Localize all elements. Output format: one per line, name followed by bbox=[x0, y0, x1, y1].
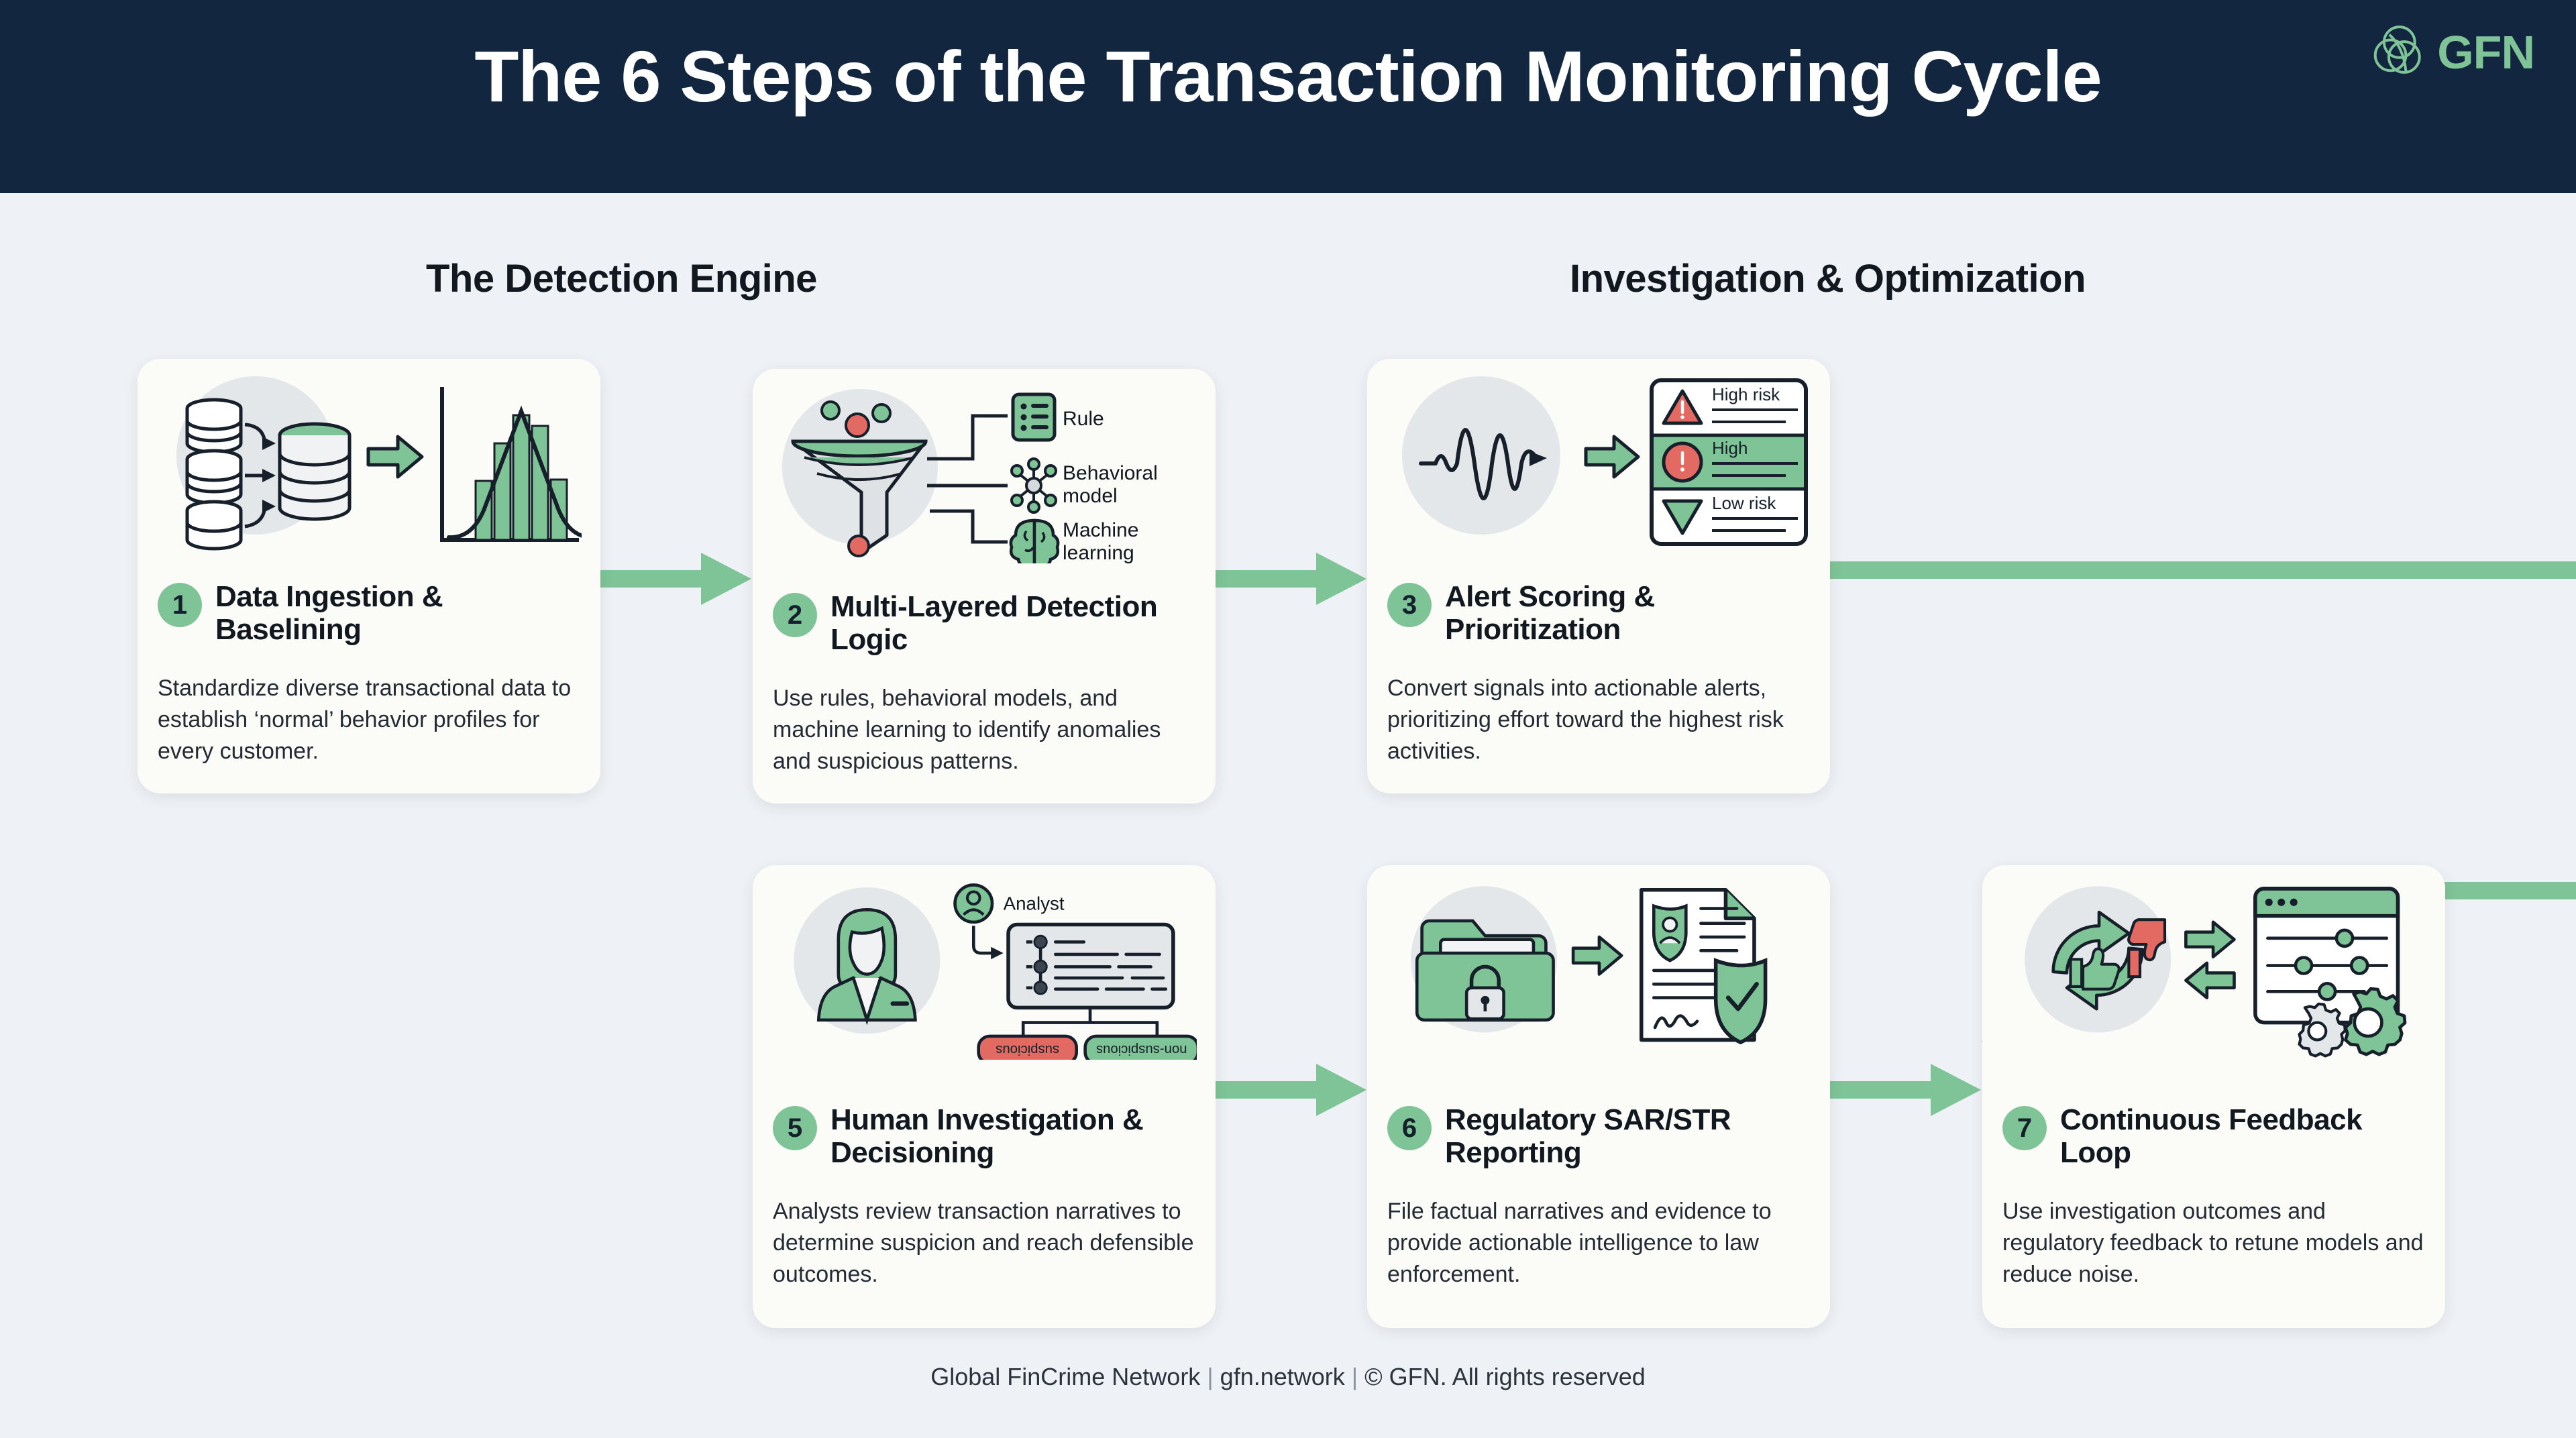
arrow-right-icon bbox=[2186, 922, 2234, 957]
risk-row-label-high-risk: High risk bbox=[1712, 384, 1780, 404]
monitor-panel-icon bbox=[1008, 925, 1173, 1038]
decision-tag-non-suspicious: non-suspicious bbox=[1085, 1036, 1197, 1060]
brain-icon bbox=[1011, 520, 1058, 563]
card-2-heading: 2 Multi-Layered Detection Logic bbox=[773, 590, 1179, 657]
checklist-icon bbox=[1013, 394, 1055, 440]
risk-row-label-low-risk: Low risk bbox=[1712, 493, 1776, 513]
card-title: Continuous Feedback Loop bbox=[2060, 1103, 2409, 1170]
page-header: The 6 Steps of the Transaction Monitorin… bbox=[0, 0, 2576, 193]
arrow-right-icon bbox=[368, 437, 422, 477]
card-3-heading: 3 Alert Scoring & Prioritization bbox=[1387, 580, 1794, 647]
user-circle-icon bbox=[955, 885, 992, 922]
connector-5-to-6 bbox=[1216, 1053, 1377, 1127]
arrow-right-icon bbox=[1573, 937, 1621, 974]
decision-tag-suspicious: suspicious bbox=[979, 1036, 1077, 1060]
step-card-6[interactable]: 6 Regulatory SAR/STR Reporting File fact… bbox=[1367, 865, 1830, 1328]
arrow-left-icon bbox=[2186, 963, 2234, 998]
card-title: Regulatory SAR/STR Reporting bbox=[1445, 1103, 1794, 1170]
card-5-heading: 5 Human Investigation & Decisioning bbox=[773, 1103, 1179, 1170]
footer-separator-1: | bbox=[1200, 1363, 1220, 1390]
page-title: The 6 Steps of the Transaction Monitorin… bbox=[0, 35, 2576, 118]
section-heading-detection: The Detection Engine bbox=[426, 256, 817, 301]
legend-label-behavioral-model-line1: Behavioral bbox=[1063, 462, 1158, 484]
card-title: Data Ingestion & Baselining bbox=[215, 580, 564, 647]
database-stack-icon bbox=[187, 400, 241, 549]
card-description: Analysts review transaction narratives t… bbox=[773, 1196, 1198, 1290]
step-number-badge: 2 bbox=[773, 593, 817, 637]
brand-logo: GFN bbox=[2369, 23, 2534, 82]
arrow-right-icon bbox=[1586, 437, 1638, 477]
step-card-2[interactable]: Rule Behavioral model Machine learning 2… bbox=[753, 369, 1216, 804]
footer-copyright: © GFN. All rights reserved bbox=[1364, 1363, 1646, 1390]
databases-to-bell-curve-art bbox=[156, 374, 582, 553]
step-number-badge: 6 bbox=[1387, 1106, 1432, 1150]
waveform-to-risk-list-art: High risk High Low risk bbox=[1386, 374, 1811, 553]
step-number-badge: 7 bbox=[2002, 1106, 2047, 1150]
step-card-7[interactable]: 7 Continuous Feedback Loop Use investiga… bbox=[1982, 865, 2445, 1328]
card-description: File factual narratives and evidence to … bbox=[1387, 1196, 1813, 1290]
footer-site[interactable]: gfn.network bbox=[1220, 1363, 1345, 1390]
brand-name: GFN bbox=[2437, 25, 2534, 79]
legend-label-machine-learning-line2: learning bbox=[1063, 542, 1134, 563]
card-title: Multi-Layered Detection Logic bbox=[830, 590, 1179, 657]
card-7-heading: 7 Continuous Feedback Loop bbox=[2002, 1103, 2409, 1170]
decision-tag-label-suspicious: suspicious bbox=[996, 1042, 1059, 1057]
card-1-heading: 1 Data Ingestion & Baselining bbox=[158, 580, 564, 647]
legend-label-machine-learning-line1: Machine bbox=[1063, 519, 1138, 541]
footer-org: Global FinCrime Network bbox=[930, 1363, 1200, 1390]
connector-2-to-3 bbox=[1216, 542, 1377, 616]
network-node-icon bbox=[1012, 459, 1056, 512]
step-card-5[interactable]: Analyst suspicious bbox=[753, 865, 1216, 1328]
step-card-1[interactable]: 1 Data Ingestion & Baselining Standardiz… bbox=[138, 359, 600, 793]
risk-row-label-high: High bbox=[1712, 438, 1748, 458]
card-6-heading: 6 Regulatory SAR/STR Reporting bbox=[1387, 1103, 1794, 1170]
step-number-badge: 1 bbox=[158, 583, 202, 627]
shield-check-icon bbox=[1716, 960, 1766, 1042]
analyst-label: Analyst bbox=[1004, 893, 1065, 914]
footer-separator-2: | bbox=[1345, 1363, 1364, 1390]
card-description: Use investigation outcomes and regulator… bbox=[2002, 1196, 2428, 1290]
analyst-review-decision-art: Analyst suspicious bbox=[771, 880, 1197, 1060]
connector-1-to-2 bbox=[600, 542, 761, 616]
locked-folder-to-report-art bbox=[1386, 880, 1811, 1060]
card-description: Standardize diverse transactional data t… bbox=[158, 673, 583, 767]
three-overlapping-circles-globe-icon bbox=[2369, 23, 2428, 82]
step-card-3[interactable]: High risk High Low risk 3 Alert Scoring … bbox=[1367, 359, 1830, 793]
funnel-with-legend-art: Rule Behavioral model Machine learning bbox=[771, 384, 1197, 563]
id-shield-icon bbox=[1654, 906, 1686, 960]
decision-tag-label-non-suspicious: non-suspicious bbox=[1096, 1042, 1187, 1057]
feedback-loop-to-tuning-art bbox=[2001, 880, 2426, 1060]
legend-label-behavioral-model-line2: model bbox=[1063, 485, 1118, 507]
card-description: Convert signals into actionable alerts, … bbox=[1387, 673, 1813, 767]
card-description: Use rules, behavioral models, and machin… bbox=[773, 683, 1198, 777]
funnel-connector-lines bbox=[927, 416, 1008, 542]
elbow-arrow-icon bbox=[973, 926, 992, 953]
step-number-badge: 5 bbox=[773, 1106, 817, 1150]
database-merged-icon bbox=[280, 424, 350, 519]
step-number-badge: 3 bbox=[1387, 583, 1432, 627]
card-title: Alert Scoring & Prioritization bbox=[1445, 580, 1794, 647]
bell-curve-histogram-icon bbox=[442, 387, 582, 540]
card-title: Human Investigation & Decisioning bbox=[830, 1103, 1179, 1170]
folder-lock-icon bbox=[1417, 921, 1553, 1020]
connector-6-to-7 bbox=[1830, 1053, 1991, 1127]
gear-icon-small bbox=[2300, 1004, 2345, 1056]
section-heading-investigation: Investigation & Optimization bbox=[1570, 256, 2086, 301]
infographic-canvas: The 6 Steps of the Transaction Monitorin… bbox=[0, 0, 2576, 1438]
page-footer: Global FinCrime Network|gfn.network|© GF… bbox=[0, 1363, 2576, 1391]
legend-label-rule: Rule bbox=[1063, 408, 1104, 430]
risk-list-panel-icon: High risk High Low risk bbox=[1652, 380, 1806, 544]
